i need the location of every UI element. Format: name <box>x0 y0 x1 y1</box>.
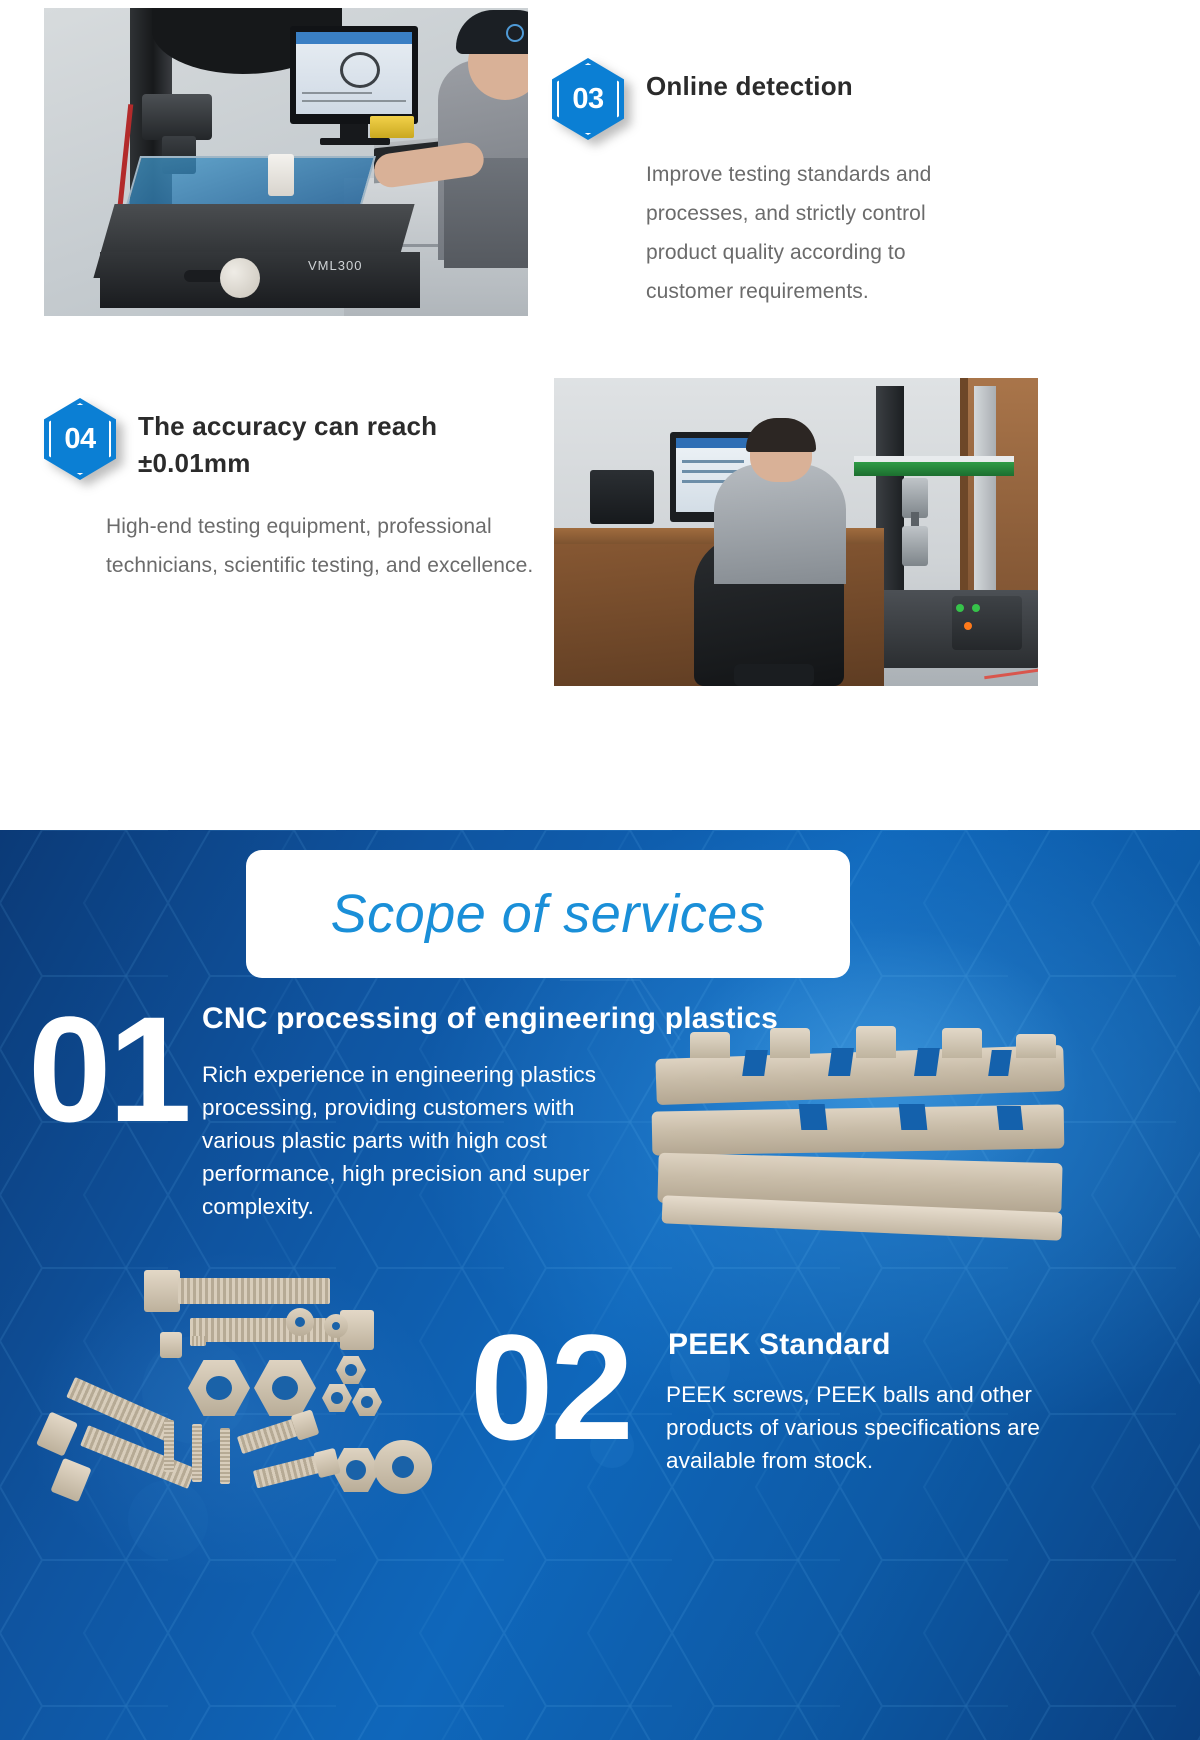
scope-body-02: PEEK screws, PEEK balls and other produc… <box>666 1378 1070 1477</box>
features-section: VML300 03 Online detection Improve testi… <box>0 0 1200 830</box>
hexagon-badge-icon: 04 <box>44 398 116 480</box>
scope-of-services-section: Scope of services 01 CNC processing of e… <box>0 830 1200 1740</box>
photo-artwork: VML300 <box>44 8 528 316</box>
feature-item-03: 03 Online detection Improve testing stan… <box>552 58 972 311</box>
testing-machine-photo <box>554 378 1038 686</box>
online-detection-photo: VML300 <box>44 8 528 316</box>
peek-screws-product-image <box>40 1248 470 1528</box>
feature-title: The accuracy can reach ±0.01mm <box>138 398 534 482</box>
peek-chain-product-image <box>650 1026 1070 1256</box>
feature-number: 03 <box>552 58 624 140</box>
feature-body: High-end testing equipment, professional… <box>106 508 534 586</box>
feature-number: 04 <box>44 398 116 480</box>
feature-header: 04 The accuracy can reach ±0.01mm <box>44 398 534 482</box>
scope-body-01: Rich experience in engineering plastics … <box>202 1058 638 1223</box>
hexagon-badge-icon: 03 <box>552 58 624 140</box>
feature-body: Improve testing standards and processes,… <box>646 156 972 311</box>
scope-number-01: 01 <box>28 1002 189 1137</box>
scope-number-02: 02 <box>470 1320 631 1455</box>
scope-title-02: PEEK Standard <box>668 1328 1088 1362</box>
photo-artwork <box>554 378 1038 686</box>
scope-title-plate: Scope of services <box>246 850 850 978</box>
scope-banner-title: Scope of services <box>331 883 766 945</box>
feature-item-04: 04 The accuracy can reach ±0.01mm High-e… <box>44 398 534 586</box>
feature-header: 03 Online detection <box>552 58 972 140</box>
feature-title: Online detection <box>646 58 853 105</box>
